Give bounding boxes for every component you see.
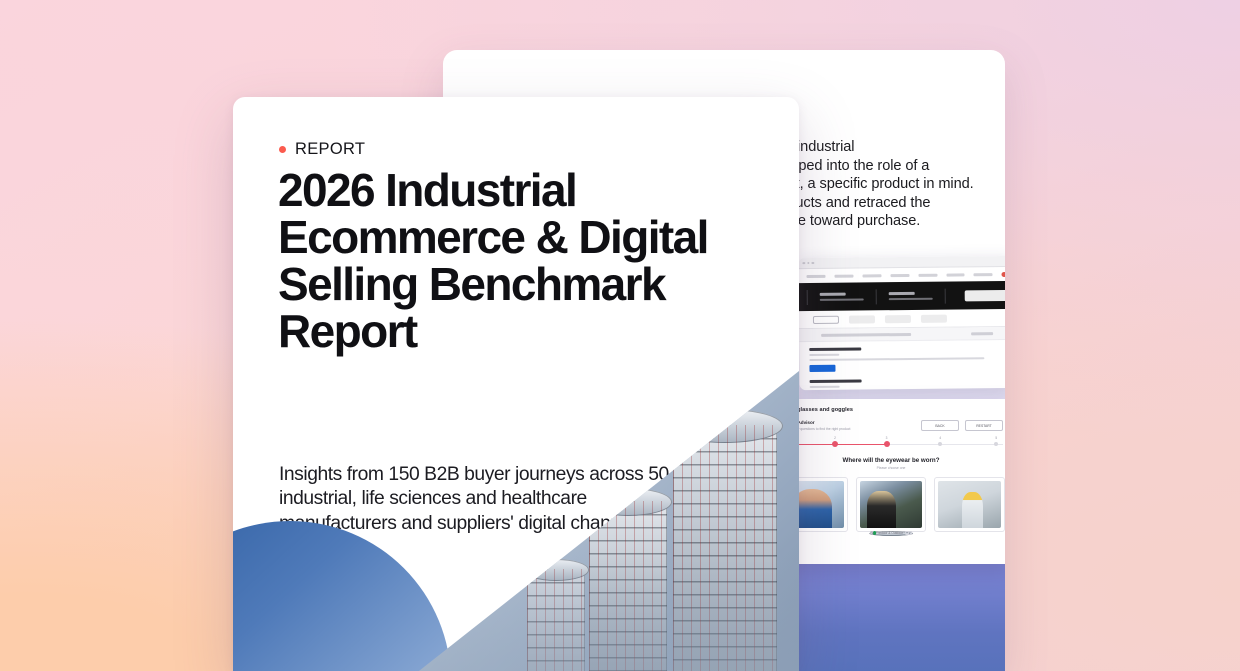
result-row[interactable] (810, 378, 1005, 390)
result-subtitle (809, 353, 839, 356)
nav-link-placeholder (807, 274, 826, 277)
progress-stepper: 1 2 3 4 5 (779, 440, 1003, 449)
progress-line-remaining (887, 444, 1003, 445)
tab-item[interactable] (921, 314, 947, 322)
info-icon[interactable] (905, 531, 909, 535)
window-dot-icon (807, 262, 810, 265)
result-description (810, 389, 985, 390)
option-card-list: Outdoor work Bright light conditions (767, 470, 1005, 532)
kicker-label: REPORT (295, 140, 365, 159)
tab-item[interactable] (813, 315, 839, 323)
tab-bar (799, 309, 1005, 329)
page-title: 2026 Industrial Ecommerce & Digital Sell… (278, 167, 718, 355)
alert-badge-icon (1002, 271, 1005, 276)
divider (807, 290, 808, 305)
bullet-dot-icon (279, 146, 286, 153)
option-card[interactable]: Indoor & Outdoor (934, 477, 1005, 532)
option-card[interactable]: Bright light conditions (856, 477, 927, 532)
step-node[interactable] (994, 442, 998, 446)
tab-item[interactable] (849, 315, 875, 323)
step-label: 4 (939, 436, 941, 440)
option-label: Indoor & Outdoor (878, 531, 902, 535)
nav-link-placeholder (918, 273, 937, 276)
nav-link-placeholder (946, 273, 965, 276)
tab-item[interactable] (885, 314, 911, 322)
option-caption: Indoor & Outdoor (872, 531, 910, 536)
notice-action (971, 332, 993, 335)
step-node[interactable] (938, 442, 942, 446)
product-meta-block (820, 293, 864, 301)
step-label: 3 (886, 436, 888, 440)
step-label: 2 (834, 436, 836, 440)
question-block: Where will the eyewear be worn? Please c… (767, 457, 1005, 470)
result-subtitle (810, 385, 840, 388)
eyewear-questionnaire-mockup: safety glasses and goggles Product Advis… (767, 399, 1005, 564)
nav-link-placeholder (862, 274, 881, 277)
photo-haze (419, 551, 799, 671)
nav-link-placeholder (974, 273, 993, 276)
window-dot-icon (802, 262, 805, 265)
header-cta-button[interactable] (965, 289, 1005, 300)
meta-value (820, 298, 864, 301)
results-panel (799, 340, 1005, 390)
questionnaire-subheader: Product Advisor Answer a few questions t… (767, 413, 1005, 431)
blue-gradient-circle (233, 521, 451, 671)
result-cta-button[interactable] (809, 365, 835, 372)
divider (945, 288, 946, 303)
result-row[interactable] (809, 346, 1005, 372)
back-button[interactable]: BACK (921, 420, 959, 431)
result-title (810, 379, 862, 382)
divider (876, 289, 877, 304)
notice-text (821, 332, 911, 336)
result-description (809, 357, 984, 361)
step-node[interactable] (832, 441, 838, 447)
window-dot-icon (812, 262, 815, 265)
meta-label (820, 293, 846, 296)
product-header-bar (799, 281, 1005, 311)
report-cover-card: REPORT 2026 Industrial Ecommerce & Digit… (233, 97, 799, 671)
result-title (809, 347, 861, 350)
nav-link-placeholder (890, 273, 909, 276)
report-cover-scene: Insights from 150 B2B buyer journeys acr… (0, 0, 1240, 671)
option-image (938, 481, 1001, 528)
product-meta-block (889, 292, 933, 300)
step-label: 5 (995, 436, 997, 440)
questionnaire-actions: BACK RESTART (921, 420, 1003, 431)
restart-button[interactable]: RESTART (965, 420, 1003, 431)
nav-link-placeholder (834, 274, 853, 277)
tower-cap (667, 409, 783, 443)
meta-label (889, 292, 915, 295)
radio-icon-selected[interactable] (873, 531, 876, 534)
step-node[interactable] (884, 441, 890, 447)
option-image (860, 481, 923, 528)
question-text: Where will the eyewear be worn? (767, 457, 1005, 464)
product-listing-mockup (798, 256, 1005, 390)
questionnaire-header: safety glasses and goggles (767, 399, 1005, 413)
report-kicker: REPORT (279, 140, 365, 159)
meta-value (889, 297, 933, 300)
